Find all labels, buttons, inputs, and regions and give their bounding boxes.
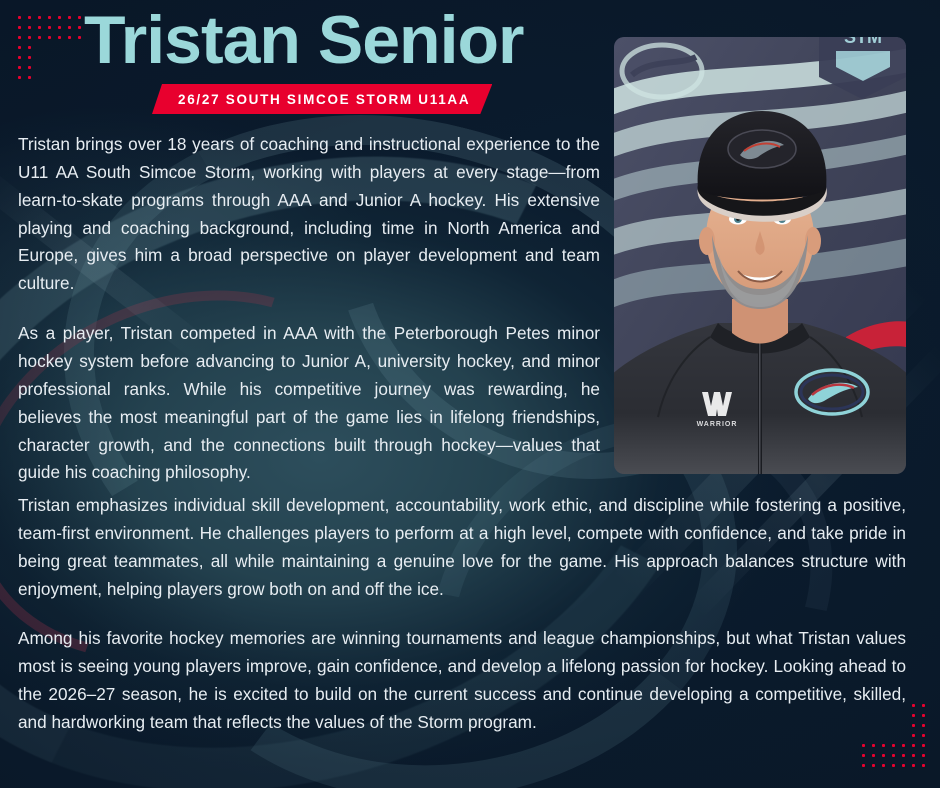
- coach-bio-poster: Tristan Senior 26/27 SOUTH SIMCOE STORM …: [0, 0, 940, 788]
- bio-paragraph-3: Tristan emphasizes individual skill deve…: [18, 492, 906, 603]
- team-banner-label: 26/27 SOUTH SIMCOE STORM U11AA: [178, 92, 470, 107]
- bio-paragraph-4: Among his favorite hockey memories are w…: [18, 625, 906, 736]
- svg-text:STM: STM: [844, 37, 882, 47]
- page-title: Tristan Senior: [84, 6, 523, 74]
- team-banner: 26/27 SOUTH SIMCOE STORM U11AA: [152, 84, 492, 114]
- bio-column-wide: Tristan emphasizes individual skill deve…: [18, 492, 906, 737]
- svg-text:WARRIOR: WARRIOR: [697, 421, 738, 428]
- bio-column-narrow: Tristan brings over 18 years of coaching…: [18, 131, 600, 487]
- bio-paragraph-1: Tristan brings over 18 years of coaching…: [18, 131, 600, 298]
- coach-headshot: STM: [614, 37, 906, 474]
- coach-headshot-illustration: STM: [614, 37, 906, 474]
- bio-paragraph-2: As a player, Tristan competed in AAA wit…: [18, 320, 600, 487]
